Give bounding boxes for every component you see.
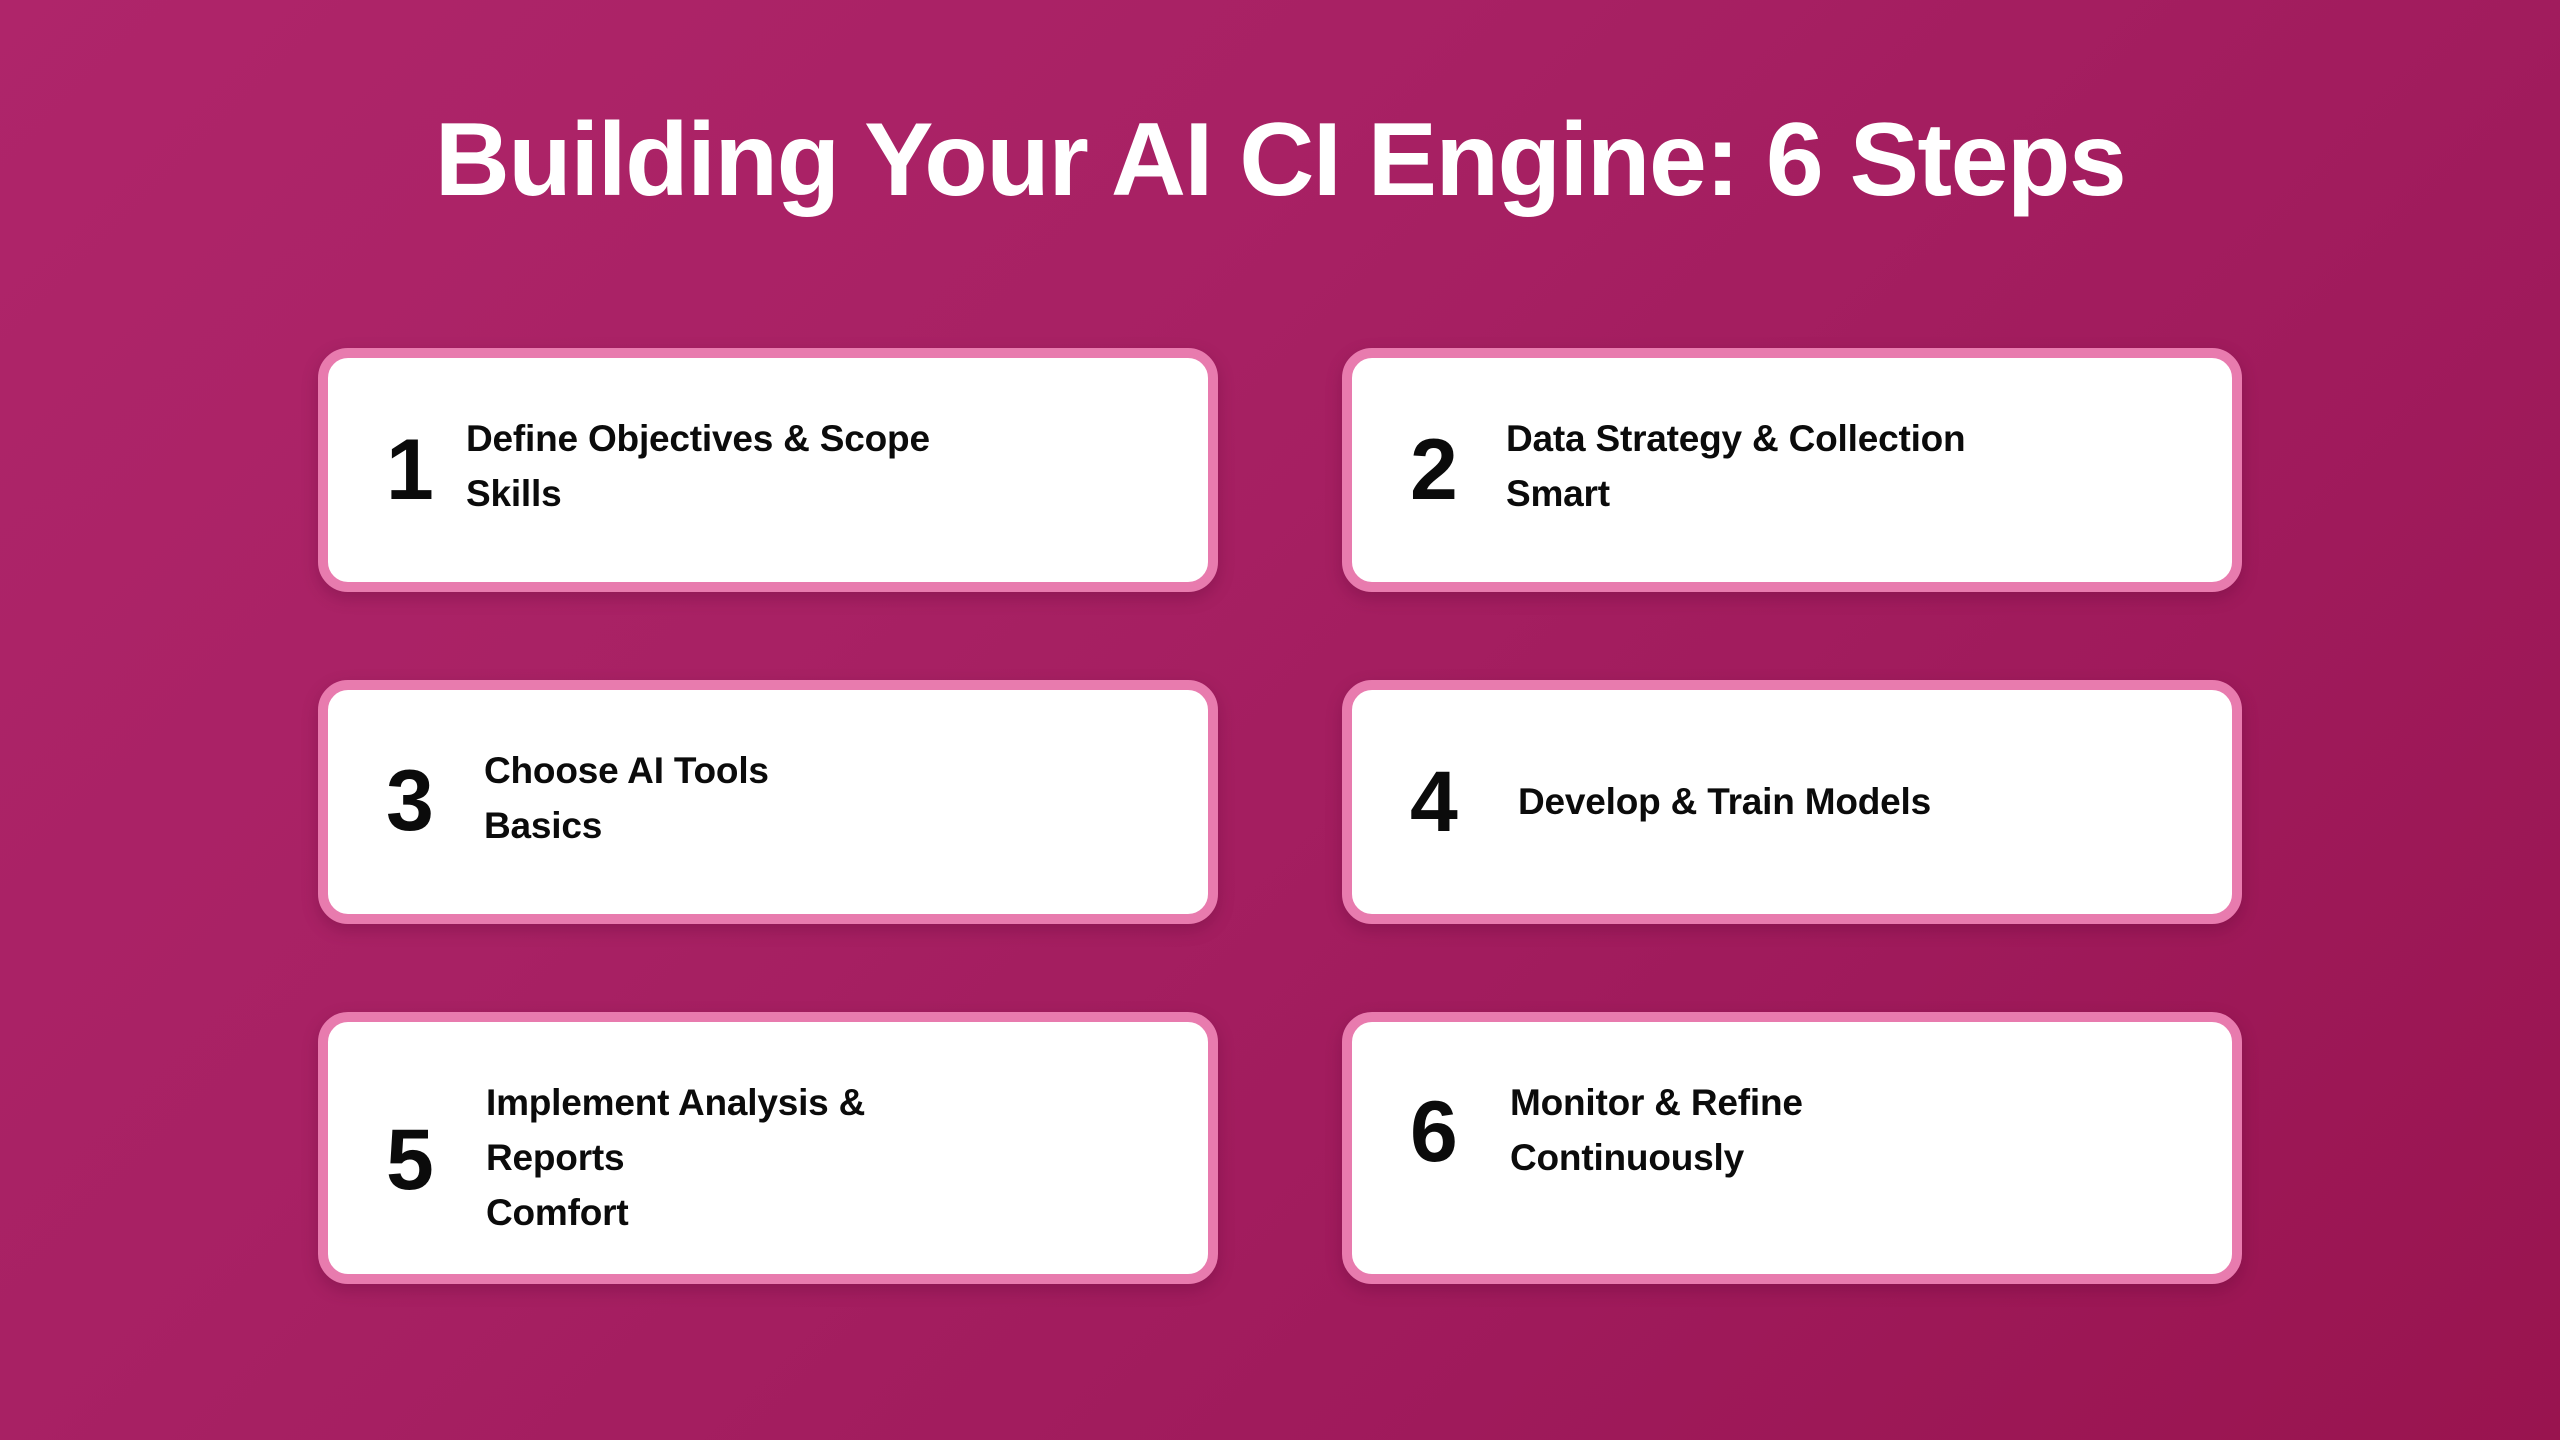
step-number-6: 6 [1410,1089,1484,1175]
step-label-1-line2: Skills [466,467,1026,522]
step-label-1: Define Objectives & Scope Skills [460,412,1026,522]
step-label-3-line1: Choose AI Tools [484,744,1044,799]
step-number-4: 4 [1410,759,1484,845]
step-card-1[interactable]: 1 Define Objectives & Scope Skills [318,348,1218,592]
step-label-5-line2: Reports [486,1131,1026,1186]
step-card-5-content: 5 Implement Analysis & Reports Comfort [386,1076,1162,1240]
step-label-2-line1: Data Strategy & Collection [1506,412,2126,467]
step-label-5-line3: Comfort [486,1186,1026,1241]
step-label-5-line1: Implement Analysis & [486,1076,1026,1131]
step-label-4-line1: Develop & Train Models [1518,775,2178,830]
step-card-6-content: 6 Monitor & Refine Continuously [1410,1076,2186,1186]
step-label-3: Choose AI Tools Basics [460,744,1044,854]
step-label-3-line2: Basics [484,799,1044,854]
step-card-2-content: 2 Data Strategy & Collection Smart [1410,412,2186,522]
steps-grid: 1 Define Objectives & Scope Skills 2 Dat… [318,348,2242,1284]
step-card-6[interactable]: 6 Monitor & Refine Continuously [1342,1012,2242,1284]
step-label-6: Monitor & Refine Continuously [1484,1076,2110,1186]
step-number-1: 1 [386,427,460,513]
step-card-1-content: 1 Define Objectives & Scope Skills [386,412,1162,522]
page-title: Building Your AI CI Engine: 6 Steps [0,104,2560,216]
step-label-2: Data Strategy & Collection Smart [1484,412,2126,522]
step-card-3-content: 3 Choose AI Tools Basics [386,744,1162,854]
step-number-5: 5 [386,1117,460,1203]
step-label-2-line2: Smart [1506,467,2126,522]
step-label-6-line1: Monitor & Refine [1510,1076,2110,1131]
step-label-4: Develop & Train Models [1484,775,2178,830]
step-card-4[interactable]: 4 Develop & Train Models [1342,680,2242,924]
step-label-5: Implement Analysis & Reports Comfort [460,1076,1026,1240]
step-number-2: 2 [1410,427,1484,513]
infographic-poster: Building Your AI CI Engine: 6 Steps 1 De… [0,0,2560,1440]
step-card-5[interactable]: 5 Implement Analysis & Reports Comfort [318,1012,1218,1284]
step-number-3: 3 [386,758,460,844]
step-label-6-line2: Continuously [1510,1131,2110,1186]
step-card-2[interactable]: 2 Data Strategy & Collection Smart [1342,348,2242,592]
step-card-3[interactable]: 3 Choose AI Tools Basics [318,680,1218,924]
step-label-1-line1: Define Objectives & Scope [466,412,1026,467]
step-card-4-content: 4 Develop & Train Models [1410,759,2186,845]
